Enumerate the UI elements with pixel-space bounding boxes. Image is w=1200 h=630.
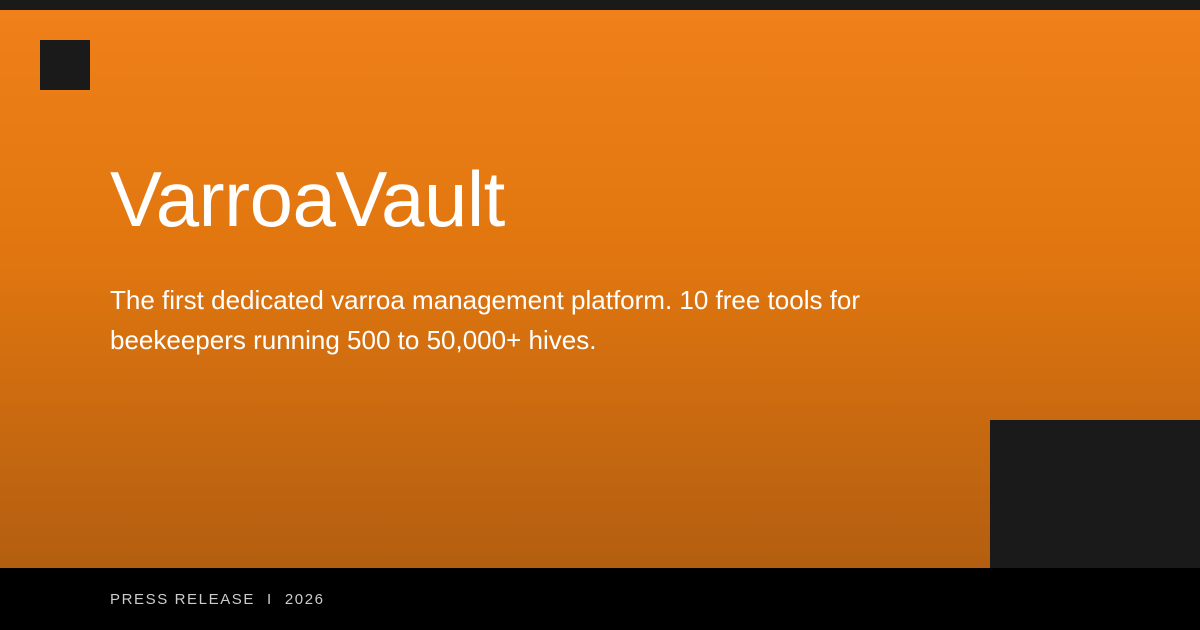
press-release-slide: VarroaVault The first dedicated varroa m… — [0, 0, 1200, 630]
hero-content: VarroaVault The first dedicated varroa m… — [110, 160, 1010, 360]
footer-year: 2026 — [285, 591, 325, 608]
footer-meta: PRESS RELEASE I 2026 — [110, 591, 325, 608]
hero-subtitle: The first dedicated varroa management pl… — [110, 280, 950, 360]
top-accent-bar — [0, 0, 1200, 10]
page-title: VarroaVault — [110, 160, 1010, 238]
logo-mark-icon — [40, 40, 90, 90]
corner-accent-block — [990, 420, 1200, 568]
footer-separator-icon: I — [267, 591, 273, 608]
footer-label: PRESS RELEASE — [110, 591, 255, 608]
footer-bar: PRESS RELEASE I 2026 — [0, 568, 1200, 630]
